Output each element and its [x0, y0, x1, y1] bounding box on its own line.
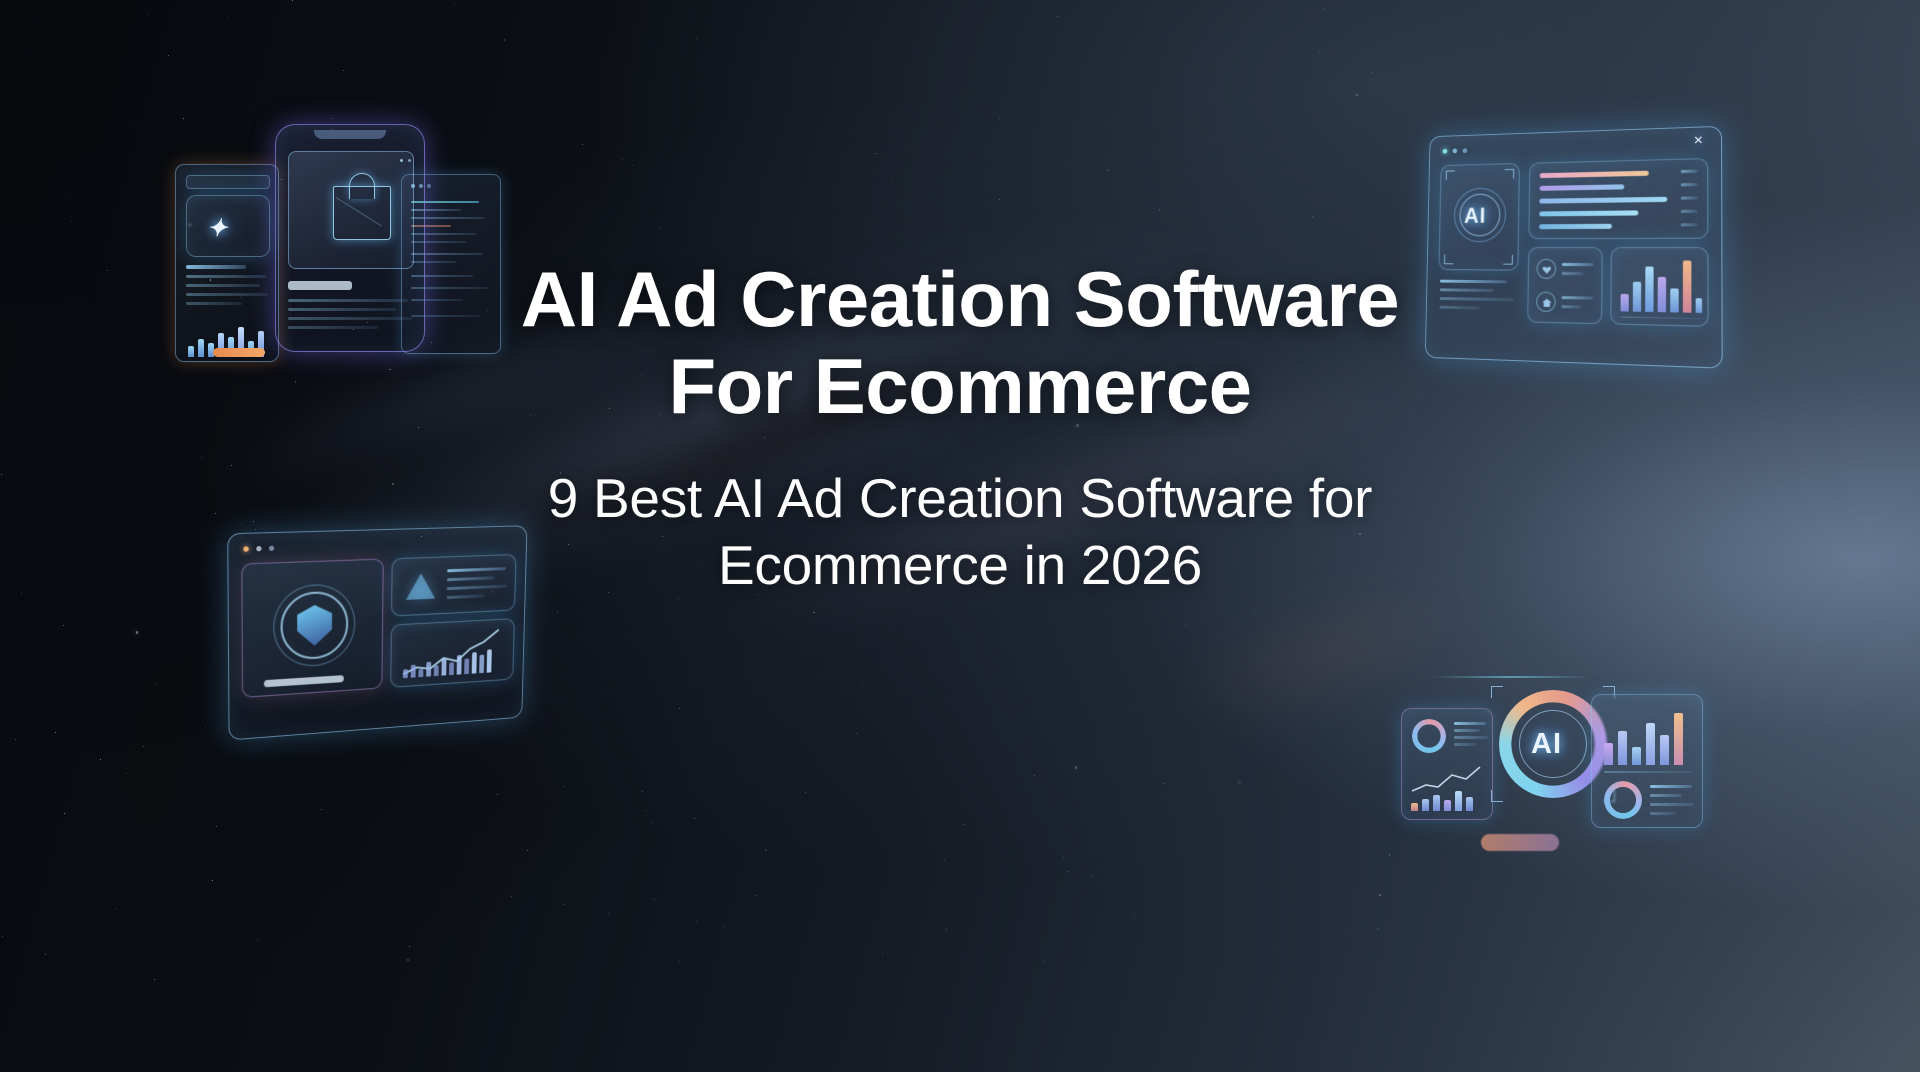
- shield-cube-icon: [297, 604, 332, 646]
- page-title: AI Ad Creation Software For Ecommerce: [0, 256, 1920, 431]
- code-line: [411, 253, 483, 255]
- ai-badge-ring: [1454, 188, 1507, 243]
- ai-hub: AI: [1499, 690, 1607, 798]
- progress-bar: [1539, 224, 1612, 229]
- card-header: [186, 175, 270, 189]
- hub-ring: [1519, 710, 1587, 778]
- hero-copy: AI Ad Creation Software For Ecommerce 9 …: [0, 256, 1920, 599]
- progress-value: [1681, 170, 1698, 173]
- focus-corner: [1603, 686, 1615, 698]
- code-line: [411, 225, 451, 227]
- trend-chart-icon: [391, 619, 516, 689]
- code-line: [411, 209, 461, 211]
- hud-ring: [281, 590, 349, 661]
- focus-corner: [1505, 169, 1515, 179]
- phone-indicator: [400, 159, 403, 162]
- progress-bar: [1539, 210, 1638, 216]
- focus-corner: [1603, 790, 1615, 802]
- progress-value: [1681, 183, 1698, 186]
- hero-banner: ✦: [0, 0, 1920, 1072]
- right-stats-panel: [1591, 694, 1703, 828]
- progress-value: [1681, 196, 1698, 199]
- bar-chart-icon: [1604, 707, 1692, 765]
- ai-badge-panel: AI: [1438, 163, 1519, 271]
- window-dot: [419, 184, 423, 188]
- panel-line: [1650, 812, 1676, 815]
- donut-chart-icon: [1412, 719, 1446, 753]
- hub-accent-line: [1431, 676, 1591, 678]
- panel-line: [1454, 736, 1488, 739]
- progress-bar: [1540, 184, 1625, 191]
- bar-chart-icon: [1411, 787, 1485, 811]
- panel-cta: [264, 675, 344, 687]
- trend-chart-icon: [1402, 759, 1494, 799]
- phone-screen: [288, 151, 414, 269]
- ai-hub-label: AI: [1531, 728, 1562, 761]
- chart-axis: [1604, 771, 1692, 773]
- progress-bar: [1540, 171, 1649, 178]
- code-line: [411, 201, 479, 203]
- panel-line: [1650, 785, 1692, 788]
- window-dot: [1453, 149, 1458, 154]
- code-line: [411, 241, 467, 243]
- window-dot: [411, 184, 415, 188]
- window-dot: [1463, 148, 1468, 153]
- progress-panel: [1528, 158, 1708, 239]
- subheadline-line-1: 9 Best AI Ad Creation Software for: [548, 467, 1372, 529]
- trend-chart-panel: [390, 618, 515, 688]
- warm-pill: [1481, 834, 1559, 851]
- ai-badge-ring: [1459, 193, 1500, 236]
- focus-corner: [1491, 790, 1503, 802]
- illustration-bottom-right: AI: [1395, 672, 1705, 867]
- panel-line: [1454, 729, 1480, 732]
- headline-line-2: For Ecommerce: [0, 343, 1920, 430]
- subheadline-line-2: Ecommerce in 2026: [0, 532, 1920, 599]
- phone-indicator: [408, 159, 411, 162]
- focus-corner: [1491, 686, 1503, 698]
- progress-value: [1681, 223, 1698, 226]
- ai-badge-label: AI: [1464, 203, 1487, 228]
- window-dot: [1443, 149, 1448, 154]
- panel-line: [1454, 722, 1486, 725]
- progress-bar: [1539, 197, 1667, 204]
- focus-corner: [1446, 170, 1455, 180]
- donut-chart-icon: [1604, 781, 1642, 819]
- window-dot: [427, 184, 431, 188]
- bar-chart-icon: [403, 647, 498, 678]
- card-image-area: ✦: [186, 195, 270, 257]
- page-subtitle: 9 Best AI Ad Creation Software for Ecomm…: [0, 465, 1920, 599]
- sparkle-icon: ✦: [207, 214, 228, 243]
- progress-value: [1681, 210, 1698, 213]
- panel-line: [1650, 803, 1694, 806]
- code-line: [411, 233, 477, 235]
- phone-notch: [314, 130, 386, 139]
- left-stats-panel: [1401, 708, 1493, 820]
- close-icon[interactable]: ×: [1694, 132, 1704, 150]
- ai-donut-icon: [1499, 690, 1607, 798]
- panel-line: [1454, 743, 1476, 746]
- headline-line-1: AI Ad Creation Software: [521, 255, 1399, 343]
- code-line: [411, 217, 485, 219]
- panel-line: [1650, 794, 1682, 797]
